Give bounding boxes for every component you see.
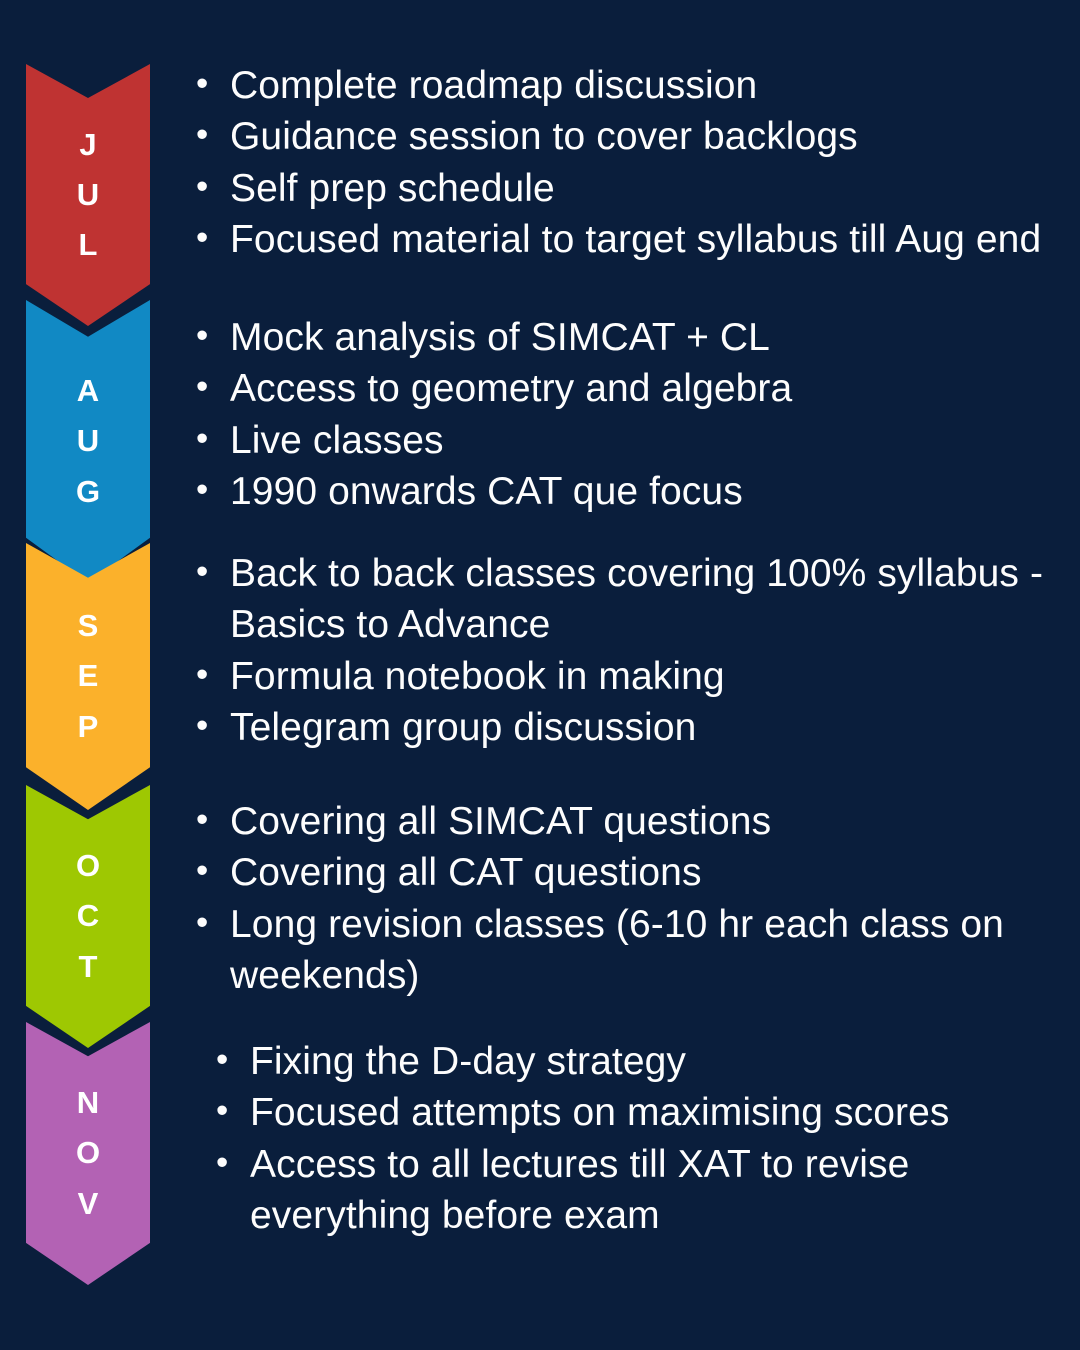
task-content-column: Complete roadmap discussionGuidance sess…: [186, 0, 1080, 1350]
task-group-oct-tasks: Covering all SIMCAT questionsCovering al…: [186, 796, 1080, 1002]
month-label-nov: N O V: [76, 1078, 100, 1229]
task-item: Fixing the D-day strategy: [206, 1036, 1080, 1087]
task-list: Complete roadmap discussionGuidance sess…: [186, 60, 1080, 266]
task-item: Access to all lectures till XAT to revis…: [206, 1139, 1080, 1242]
task-item: Covering all CAT questions: [186, 847, 1080, 898]
task-item: 1990 onwards CAT que focus: [186, 466, 1080, 517]
month-label-oct: O C T: [76, 841, 100, 992]
task-item: Formula notebook in making: [186, 651, 1080, 702]
task-group-jul-tasks: Complete roadmap discussionGuidance sess…: [186, 60, 1080, 266]
month-label-sep: S E P: [78, 601, 99, 752]
task-item: Back to back classes covering 100% sylla…: [186, 548, 1080, 651]
task-item: Long revision classes (6-10 hr each clas…: [186, 899, 1080, 1002]
task-item: Focused material to target syllabus till…: [186, 214, 1080, 265]
month-label-jul: J U L: [77, 120, 99, 271]
task-item: Focused attempts on maximising scores: [206, 1087, 1080, 1138]
roadmap-infographic: J U LA U GS E PO C TN O V Complete roadm…: [0, 0, 1080, 1350]
task-group-aug-tasks: Mock analysis of SIMCAT + CLAccess to ge…: [186, 312, 1080, 518]
month-timeline-column: J U LA U GS E PO C TN O V: [26, 0, 150, 1350]
task-item: Access to geometry and algebra: [186, 363, 1080, 414]
month-label-aug: A U G: [76, 366, 100, 517]
task-list: Fixing the D-day strategyFocused attempt…: [206, 1036, 1080, 1242]
task-list: Back to back classes covering 100% sylla…: [186, 548, 1080, 754]
task-list: Mock analysis of SIMCAT + CLAccess to ge…: [186, 312, 1080, 518]
task-group-nov-tasks: Fixing the D-day strategyFocused attempt…: [186, 1036, 1080, 1242]
month-banner-aug: A U G: [26, 300, 150, 583]
task-item: Live classes: [186, 415, 1080, 466]
task-item: Guidance session to cover backlogs: [186, 111, 1080, 162]
task-item: Covering all SIMCAT questions: [186, 796, 1080, 847]
month-banner-nov: N O V: [26, 1022, 150, 1285]
month-banner-sep: S E P: [26, 543, 150, 810]
task-item: Complete roadmap discussion: [186, 60, 1080, 111]
task-item: Self prep schedule: [186, 163, 1080, 214]
month-banner-oct: O C T: [26, 785, 150, 1048]
task-group-sep-tasks: Back to back classes covering 100% sylla…: [186, 548, 1080, 754]
task-item: Telegram group discussion: [186, 702, 1080, 753]
task-item: Mock analysis of SIMCAT + CL: [186, 312, 1080, 363]
task-list: Covering all SIMCAT questionsCovering al…: [186, 796, 1080, 1002]
month-banner-jul: J U L: [26, 64, 150, 326]
